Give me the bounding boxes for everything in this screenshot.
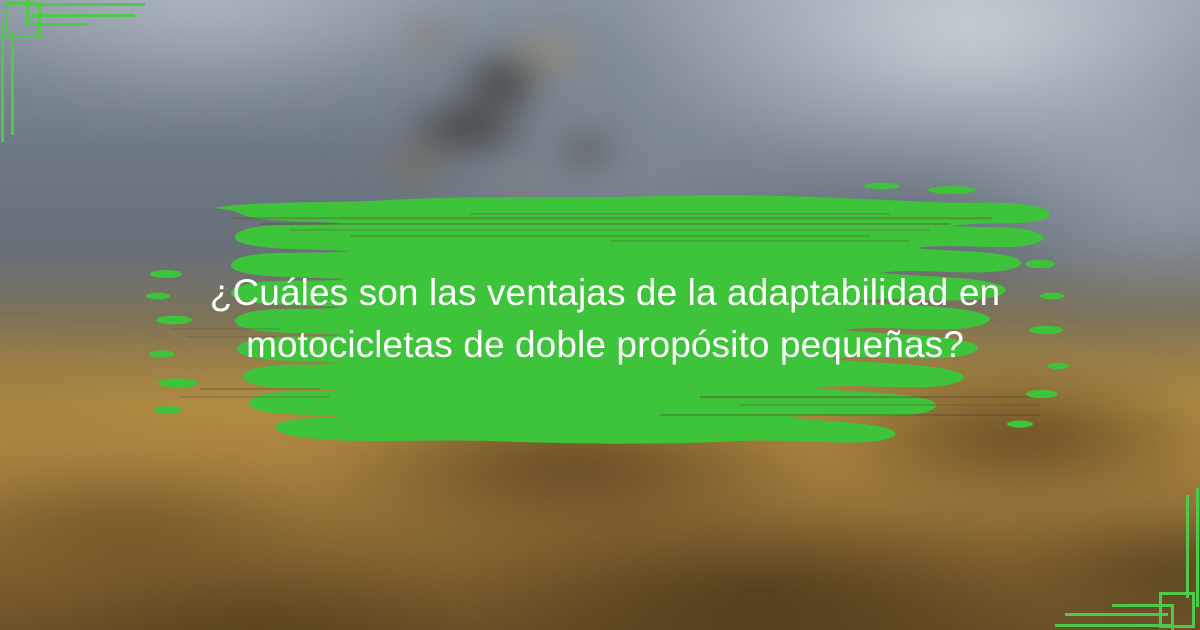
corner-square-top-left <box>5 2 41 38</box>
corner-elbow-vertical-top-left <box>26 0 29 26</box>
corner-line-bottom-long <box>1055 624 1174 627</box>
headline: ¿Cuáles son las ventajas de la adaptabil… <box>140 178 1070 460</box>
corner-elbow-riser-top-left <box>26 0 29 3</box>
share-card: ¿Cuáles son las ventajas de la adaptabil… <box>0 0 1200 630</box>
corner-line-top-long <box>26 3 145 6</box>
headline-line-2: motocicletas de doble propósito pequeñas… <box>246 319 964 371</box>
corner-line-bottom-short <box>1065 613 1168 616</box>
corner-line-top-short <box>32 14 135 17</box>
corner-elbow-bend-top-left <box>26 23 29 26</box>
corner-elbow-vertical-bottom-right <box>1171 604 1174 630</box>
corner-square-bottom-right <box>1159 592 1195 628</box>
corner-ornament-top-left <box>0 0 170 160</box>
corner-line-right-long <box>1196 488 1199 607</box>
corner-ornament-bottom-right <box>1030 470 1200 630</box>
corner-line-left-short <box>11 32 14 135</box>
corner-line-left-long <box>1 23 4 142</box>
corner-elbow-horizontal-top-left <box>26 23 88 26</box>
corner-elbow-horizontal-bottom-right <box>1112 604 1174 607</box>
headline-line-1: ¿Cuáles son las ventajas de la adaptabil… <box>210 267 1000 319</box>
corner-line-right-short <box>1186 495 1189 598</box>
